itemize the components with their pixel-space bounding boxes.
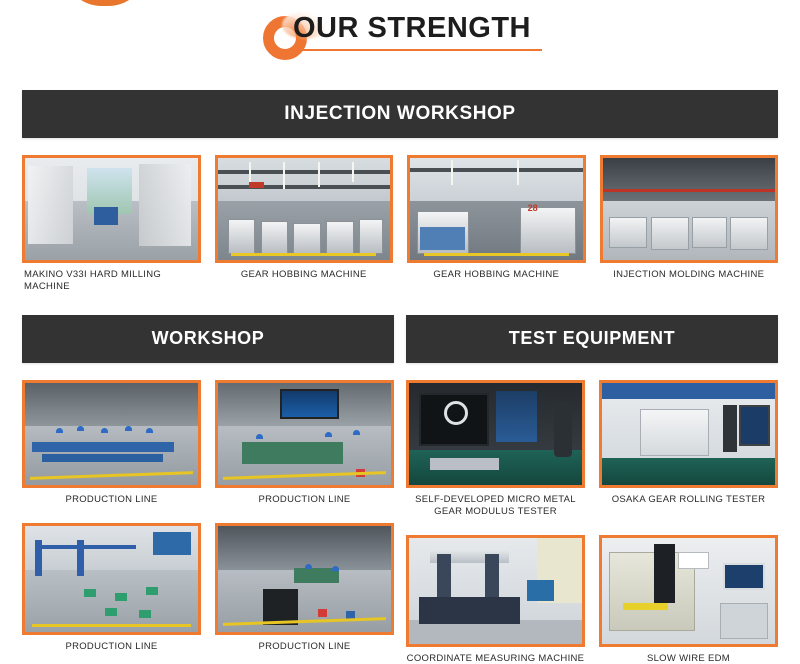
photo-art: [218, 383, 391, 485]
page-title-area: OUR STRENGTH: [0, 0, 800, 90]
photo-art: [602, 538, 775, 644]
production-line-photo-2[interactable]: [215, 380, 394, 488]
photo-card[interactable]: PRODUCTION LINE: [215, 380, 394, 506]
photo-card[interactable]: PRODUCTION LINE: [22, 380, 201, 506]
photo-card[interactable]: SELF-DEVELOPED MICRO METAL GEAR MODULUS …: [406, 380, 585, 518]
photo-caption: SLOW WIRE EDM: [599, 653, 778, 664]
section-heading-workshop: WORKSHOP: [22, 315, 394, 363]
photo-row-test-top: SELF-DEVELOPED MICRO METAL GEAR MODULUS …: [406, 380, 778, 518]
photo-art: [218, 526, 391, 632]
photo-card[interactable]: SLOW WIRE EDM: [599, 535, 778, 664]
photo-art: [218, 158, 391, 260]
photo-card[interactable]: GEAR HOBBING MACHINE: [215, 155, 394, 293]
page-title-group: OUR STRENGTH: [269, 14, 531, 51]
photo-caption: PRODUCTION LINE: [22, 641, 201, 653]
section-heading-injection-workshop: INJECTION WORKSHOP: [22, 90, 778, 138]
photo-row-test-bottom: COORDINATE MEASURING MACHINE SLOW WIRE E…: [406, 535, 778, 664]
micro-metal-gear-modulus-tester-photo[interactable]: [406, 380, 585, 488]
page-title: OUR STRENGTH: [269, 14, 531, 43]
title-underline-rule: [287, 49, 542, 51]
lower-two-column-area: WORKSHOP PRODUCTION LI: [0, 315, 800, 664]
production-line-photo-3[interactable]: [22, 523, 201, 635]
production-line-photo-1[interactable]: [22, 380, 201, 488]
coordinate-measuring-machine-photo[interactable]: [406, 535, 585, 647]
photo-art: 28: [410, 158, 583, 260]
section-workshop: WORKSHOP PRODUCTION LI: [22, 315, 394, 664]
photo-art: [603, 158, 776, 260]
injection-molding-machine-photo[interactable]: [600, 155, 779, 263]
makino-v33i-hard-milling-machine-photo[interactable]: [22, 155, 201, 263]
photo-card[interactable]: PRODUCTION LINE: [215, 523, 394, 653]
section-test-equipment: TEST EQUIPMENT SELF-DEVELOPED MICRO META…: [406, 315, 778, 664]
photo-row-injection: MAKINO V33I HARD MILLING MACHINE: [22, 155, 778, 293]
section-heading-test-equipment: TEST EQUIPMENT: [406, 315, 778, 363]
photo-caption: PRODUCTION LINE: [215, 641, 394, 653]
photo-art: [25, 158, 198, 260]
gear-hobbing-machine-photo[interactable]: [215, 155, 394, 263]
gear-hobbing-machine-photo-2[interactable]: 28: [407, 155, 586, 263]
photo-card[interactable]: COORDINATE MEASURING MACHINE: [406, 535, 585, 664]
section-injection-workshop: INJECTION WORKSHOP MAKINO V33I HARD MILL…: [0, 90, 800, 293]
photo-caption: PRODUCTION LINE: [22, 494, 201, 506]
photo-caption: SELF-DEVELOPED MICRO METAL GEAR MODULUS …: [406, 494, 585, 518]
photo-art: [602, 383, 775, 485]
photo-caption: MAKINO V33I HARD MILLING MACHINE: [22, 269, 201, 293]
photo-caption: INJECTION MOLDING MACHINE: [600, 269, 779, 281]
photo-card[interactable]: MAKINO V33I HARD MILLING MACHINE: [22, 155, 201, 293]
slow-wire-edm-photo[interactable]: [599, 535, 778, 647]
photo-caption: PRODUCTION LINE: [215, 494, 394, 506]
photo-card[interactable]: PRODUCTION LINE: [22, 523, 201, 653]
photo-row-workshop-top: PRODUCTION LINE PRODUCTION LINE: [22, 380, 394, 506]
photo-art: [409, 383, 582, 485]
photo-row-workshop-bottom: PRODUCTION LINE PROD: [22, 523, 394, 653]
photo-card[interactable]: INJECTION MOLDING MACHINE: [600, 155, 779, 293]
photo-caption: GEAR HOBBING MACHINE: [407, 269, 586, 281]
production-line-photo-4[interactable]: [215, 523, 394, 635]
osaka-gear-rolling-tester-photo[interactable]: [599, 380, 778, 488]
photo-art: [409, 538, 582, 644]
machine-number-badge: 28: [528, 203, 538, 213]
photo-card[interactable]: OSAKA GEAR ROLLING TESTER: [599, 380, 778, 518]
photo-art: [25, 526, 198, 632]
photo-caption: COORDINATE MEASURING MACHINE: [406, 653, 585, 664]
photo-art: [25, 383, 198, 485]
photo-card[interactable]: 28 GEAR HOBBING MACHINE: [407, 155, 586, 293]
photo-caption: GEAR HOBBING MACHINE: [215, 269, 394, 281]
photo-caption: OSAKA GEAR ROLLING TESTER: [599, 494, 778, 506]
